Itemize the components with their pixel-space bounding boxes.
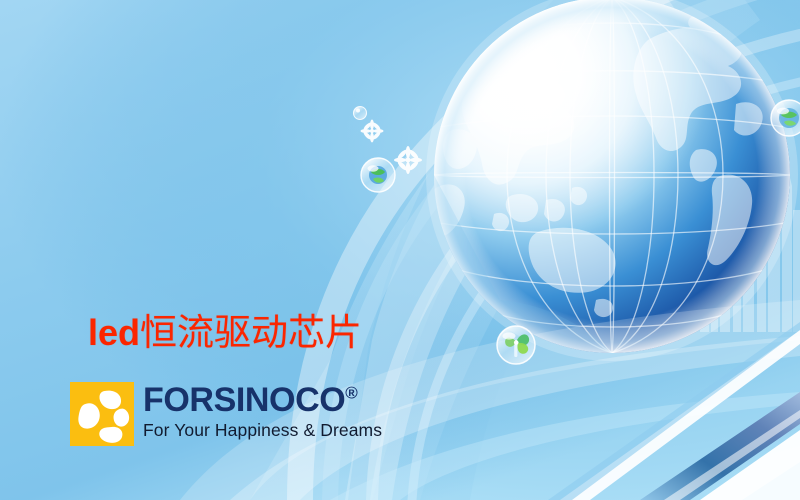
logo-tagline: For Your Happiness & Dreams	[143, 420, 382, 440]
logo-wordmark-text: FORSINOCO	[143, 381, 345, 419]
bubble-small	[354, 107, 367, 120]
headline-line-1: led恒流驱动芯片	[88, 299, 362, 368]
skyline-antenna-accents	[676, 272, 690, 332]
headline-latin-word: led	[88, 312, 140, 353]
headline-text: led恒流驱动芯片 目录下载	[88, 163, 362, 500]
globe-continents	[428, 12, 763, 317]
pinwheel-petals-icon	[70, 382, 134, 446]
headline-cjk-part: 恒流驱动芯片	[140, 313, 362, 354]
flower-sparkle	[361, 120, 384, 143]
bubble-windmill-icon	[497, 326, 535, 364]
company-logo: FORSINOCO® For Your Happiness & Dreams	[70, 382, 382, 446]
logo-wordmark: FORSINOCO®	[143, 383, 382, 417]
globe-grid-lines	[434, 0, 790, 353]
flower-sparkle	[394, 146, 422, 174]
bubble-globe-icon	[361, 158, 395, 192]
pinwheel-flower-mark	[70, 382, 134, 446]
promo-banner: led恒流驱动芯片 目录下载 FORSINOCO® For Your Happi…	[0, 0, 800, 500]
logo-text-lockup: FORSINOCO® For Your Happiness & Dreams	[143, 382, 382, 440]
registered-trademark-icon: ®	[345, 384, 357, 403]
city-skyline-silhouette	[700, 166, 800, 332]
diagonal-ribbon-bands	[548, 322, 800, 500]
bubble-corner-icon	[771, 100, 800, 136]
world-globe	[426, 0, 798, 361]
